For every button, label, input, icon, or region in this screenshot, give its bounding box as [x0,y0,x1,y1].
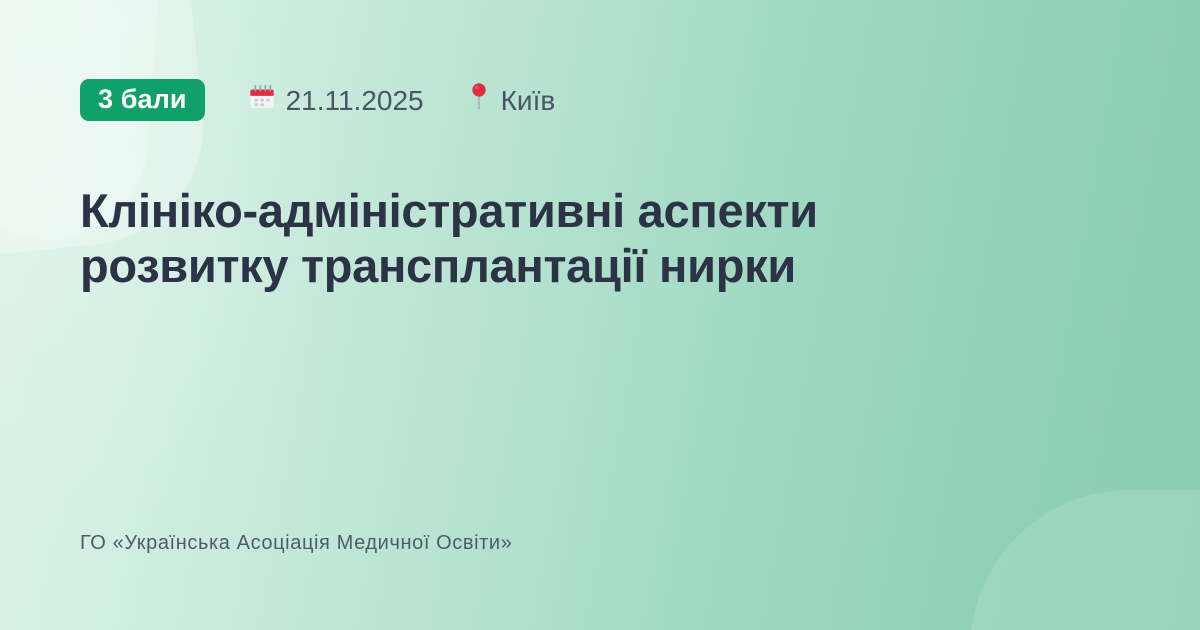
card-content: 3 бали [0,0,1200,630]
event-title-line-1: Клініко-адміністративні аспекти [80,184,818,237]
calendar-icon [247,82,277,119]
event-date-text: 21.11.2025 [286,87,424,115]
credit-points-badge: 3 бали [80,79,205,121]
event-title: Клініко-адміністративні аспекти розвитку… [80,184,1040,293]
event-location: Київ [466,82,556,119]
event-date: 21.11.2025 [247,82,424,119]
event-title-line-2: розвитку трансплантації нирки [80,239,796,292]
layout-spacer [80,293,1120,532]
organizer-name: ГО «Українська Асоціація Медичної Освіти… [80,532,1120,630]
map-pin-icon [466,82,492,119]
event-card: 3 бали [0,0,1200,630]
event-location-text: Київ [501,87,556,115]
meta-row: 3 бали [80,78,1120,122]
